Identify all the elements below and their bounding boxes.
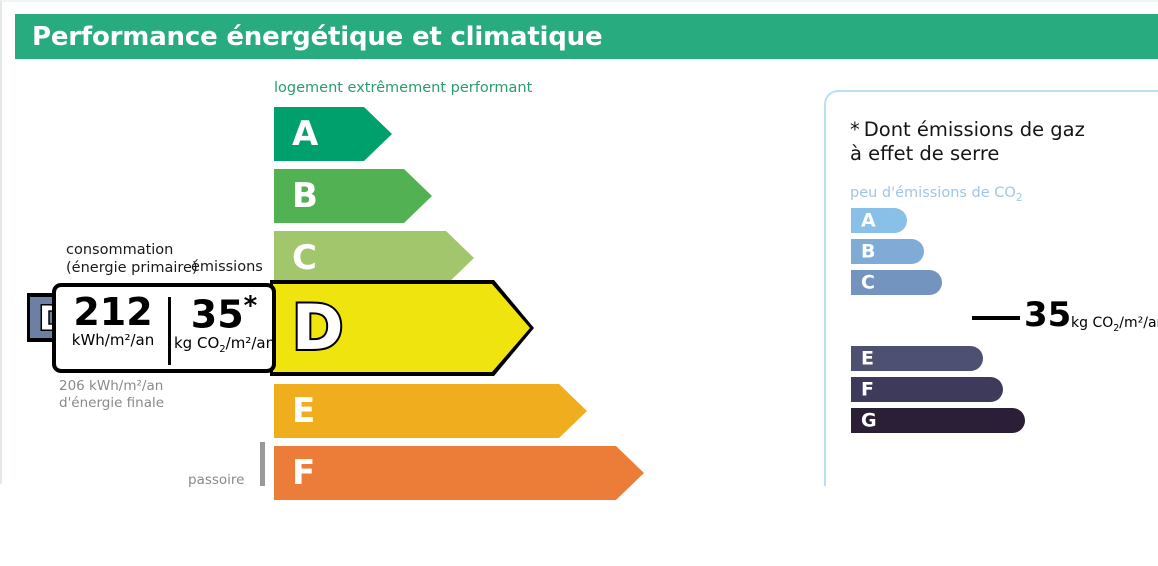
final-energy-line2: d'énergie finale [59,395,164,412]
ges-bar-a[interactable]: A [851,208,907,233]
ges-bar-c[interactable]: C [851,270,942,295]
energy-band-d-letter: D [292,297,343,359]
energy-band-e-letter: E [292,394,315,428]
emissions-column: 35* kg CO2/m²/an [174,293,274,355]
emissions-value-group: 35* [174,293,274,336]
energy-band-e-fill [274,384,587,438]
ges-leader-line [972,316,1020,320]
final-energy-caption: 206 kWh/m²/an d'énergie finale [59,378,164,412]
ges-bar-c-letter: C [861,273,875,292]
ges-value: 35 [1024,298,1071,332]
energy-band-d[interactable]: D [270,280,534,376]
ges-bar-g-letter: G [861,411,877,430]
ges-title-asterisk: * [850,118,860,141]
passoire-label: passoire [188,472,244,488]
energy-band-c-letter: C [292,241,317,275]
consumption-emissions-box: 212 kWh/m²/an 35* kg CO2/m²/an [52,283,276,373]
energy-band-c[interactable]: C [274,231,474,285]
ges-unit-pre: kg CO [1071,315,1113,331]
ges-bar-e[interactable]: E [851,346,983,371]
ges-unit-post: /m²/an [1119,315,1158,331]
ges-bar-b-letter: B [861,242,875,261]
energy-label-scale: logement extrêmement performant ABCEF D … [2,2,702,486]
ges-top-caption-sub: 2 [1016,192,1023,204]
energy-band-b-letter: B [292,179,318,213]
energy-band-a[interactable]: A [274,107,392,161]
consumption-column: 212 kWh/m²/an [58,293,168,349]
consumption-label: consommation (énergie primaire) [66,241,198,277]
emissions-label: émissions [191,259,263,275]
info-box-divider [168,297,171,365]
emissions-unit-post: /m²/an [226,334,275,352]
ges-bar-a-letter: A [861,211,876,230]
energy-band-b[interactable]: B [274,169,432,223]
consumption-label-line2: (énergie primaire) [66,259,198,277]
consumption-value: 212 [58,293,168,333]
emissions-unit: kg CO2/m²/an [174,334,274,355]
emissions-asterisk: * [244,291,258,321]
ges-bar-f[interactable]: F [851,377,1003,402]
ges-bar-b[interactable]: B [851,239,924,264]
ges-top-caption-pre: peu d'émissions de CO [850,185,1016,201]
ges-bar-e-letter: E [861,349,874,368]
ges-title-line1: Dont émissions de gaz [864,118,1085,141]
final-energy-line1: 206 kWh/m²/an [59,378,164,395]
energy-band-a-letter: A [292,117,318,151]
energy-band-e[interactable]: E [274,384,587,438]
ges-title-line2: à effet de serre [850,142,1085,166]
energy-band-f-letter: F [292,456,315,490]
ges-panel-title: *Dont émissions de gaz à effet de serre [850,118,1085,167]
dpe-page: Performance énergétique et climatique lo… [0,0,1158,484]
consumption-label-line1: consommation [66,241,198,259]
energy-band-f[interactable]: F [274,446,644,500]
energy-band-f-fill [274,446,644,500]
ges-bar-f-letter: F [861,380,874,399]
emissions-value: 35 [191,293,244,337]
consumption-unit: kWh/m²/an [58,331,168,349]
ges-top-caption: peu d'émissions de CO2 [850,185,1023,204]
scale-top-caption: logement extrêmement performant [274,80,532,96]
emissions-unit-pre: kg CO [174,334,219,352]
ges-unit: kg CO2/m²/an [1071,315,1158,334]
ges-bar-g[interactable]: G [851,408,1025,433]
passoire-marker-bar [260,442,265,486]
